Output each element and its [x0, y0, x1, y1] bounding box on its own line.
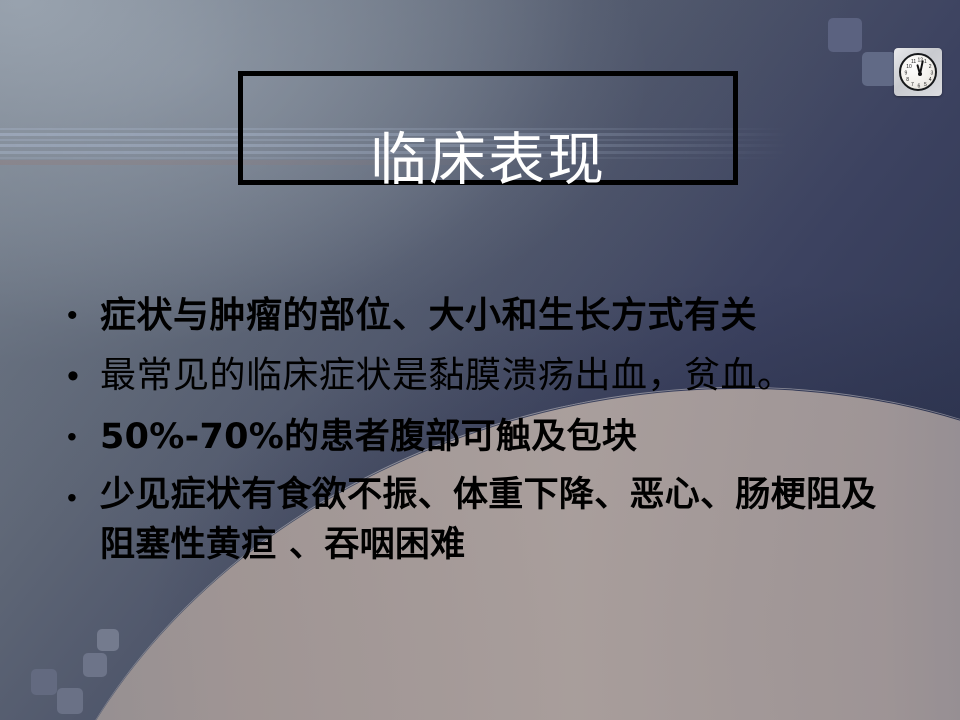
clock-numeral: 4	[929, 78, 930, 79]
clock-center-pin	[918, 72, 922, 76]
clock-numeral: 10	[906, 65, 907, 66]
deco-square-top-right-2	[862, 52, 896, 86]
clock-numeral: 5	[924, 83, 925, 84]
deco-square-bottom-3	[83, 653, 107, 677]
clock-numeral: 7	[911, 83, 912, 84]
bullet-marker-icon: •	[58, 470, 100, 526]
clock-numeral: 3	[931, 72, 932, 73]
bullet-text: 症状与肿瘤的部位、大小和生长方式有关	[100, 288, 938, 344]
bullet-item-most-common: • 最常见的临床症状是黏膜溃疡出血，贫血。	[58, 346, 938, 406]
clock-face: 12 1 2 3 4 5 6 7 8 9 10 11	[899, 53, 937, 91]
deco-square-bottom-1	[31, 669, 57, 695]
bullet-text: 少见症状有食欲不振、体重下降、恶心、肠梗阻及阻塞性黄疸 、吞咽困难	[100, 470, 900, 570]
presentation-slide: 12 1 2 3 4 5 6 7 8 9 10 11 临床表现 • 症状与肿瘤的…	[0, 0, 960, 720]
bullet-marker-icon: •	[58, 346, 100, 406]
deco-square-bottom-4	[97, 629, 119, 651]
bullet-marker-icon: •	[58, 408, 100, 466]
deco-square-top-right-1	[828, 18, 862, 52]
page-title: 临床表现	[238, 128, 738, 192]
bullet-list: • 症状与肿瘤的部位、大小和生长方式有关 • 最常见的临床症状是黏膜溃疡出血，贫…	[58, 288, 938, 570]
bullet-item-rare-symptoms: • 少见症状有食欲不振、体重下降、恶心、肠梗阻及阻塞性黄疸 、吞咽困难	[58, 470, 938, 570]
clock-numeral: 1	[924, 60, 925, 61]
deco-square-bottom-2	[57, 688, 83, 714]
clock-numeral: 12	[918, 59, 919, 60]
clock-numeral: 8	[906, 78, 907, 79]
bullet-item-palpable-mass: • 50%-70%的患者腹部可触及包块	[58, 408, 938, 466]
bullet-text: 50%-70%的患者腹部可触及包块	[100, 408, 938, 466]
bullet-item-symptom-relation: • 症状与肿瘤的部位、大小和生长方式有关	[58, 288, 938, 344]
clock-icon: 12 1 2 3 4 5 6 7 8 9 10 11	[894, 48, 942, 96]
clock-numeral: 6	[918, 85, 919, 86]
clock-numeral: 2	[929, 65, 930, 66]
clock-numeral: 11	[911, 60, 912, 61]
clock-numeral: 9	[905, 72, 906, 73]
bullet-marker-icon: •	[58, 288, 100, 344]
bullet-text: 最常见的临床症状是黏膜溃疡出血，贫血。	[100, 346, 938, 406]
